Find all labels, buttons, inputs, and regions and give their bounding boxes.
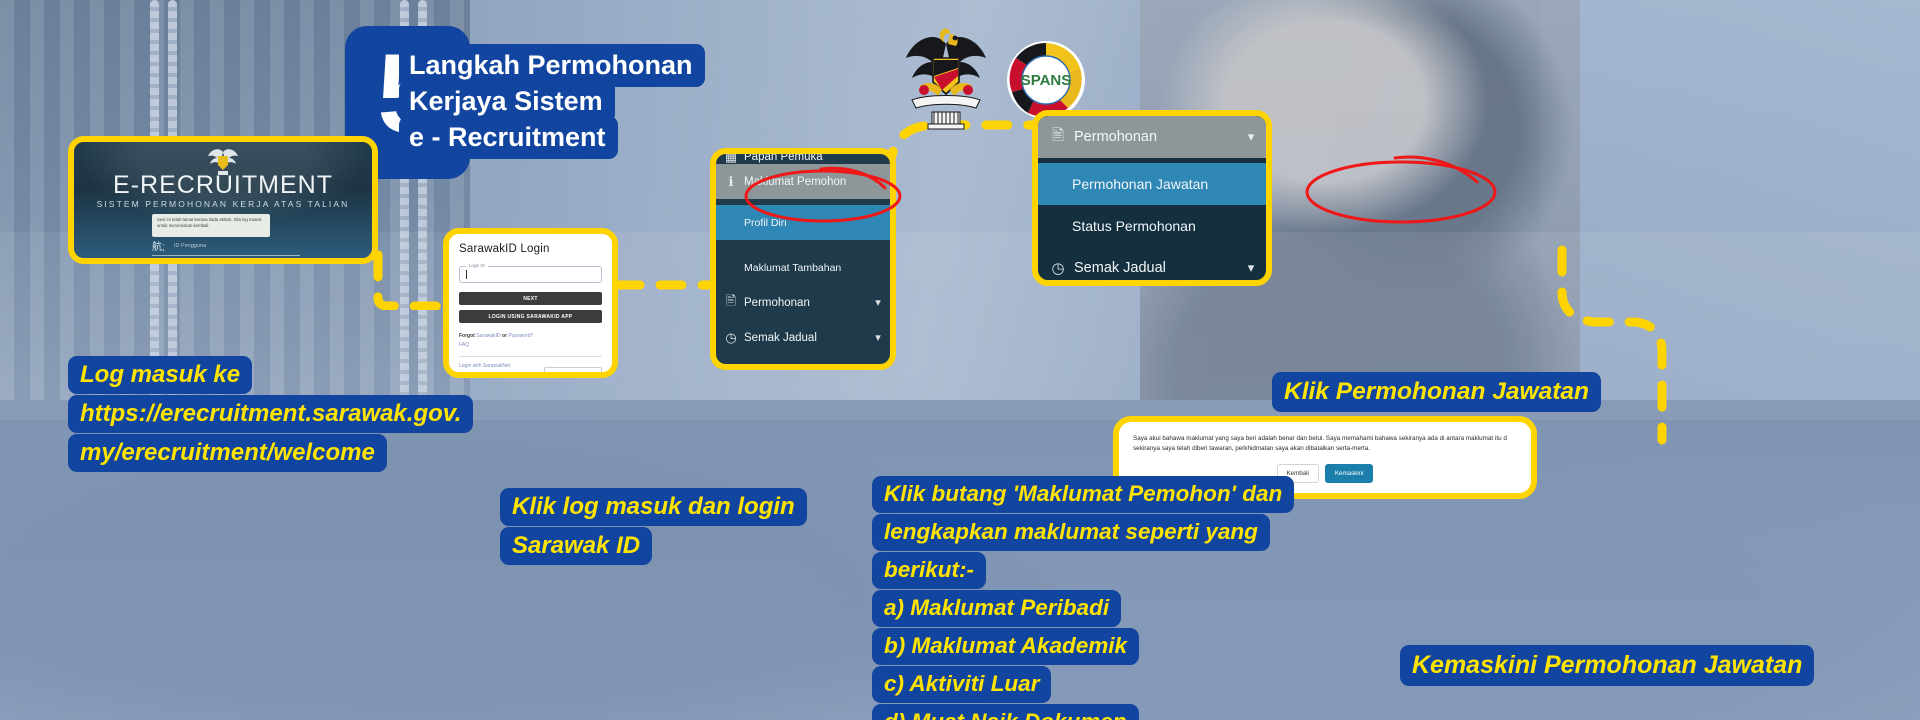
info-icon: ℹ [718, 174, 744, 190]
sarawakid-title: SarawakID Login [459, 243, 602, 255]
sarawak-coat-of-arms-icon [898, 24, 994, 134]
clock-icon: ◷ [1042, 259, 1074, 277]
login-id-label: Login ID [466, 263, 488, 268]
register-row: Login with SarawakNet Don't have an acco… [459, 363, 602, 378]
next-button[interactable]: NEXT [459, 292, 602, 305]
caption-line: d) Muat Naik Dokumen [872, 704, 1139, 720]
document-icon: 🖹 [1042, 125, 1074, 150]
caption-line: Sarawak ID [500, 527, 652, 565]
caption-step-1: Log masuk ke https://erecruitment.sarawa… [68, 356, 473, 473]
forgot-prefix: Forgot [459, 333, 476, 339]
sidebar-item-maklumat-tambahan[interactable]: Maklumat Tambahan [716, 250, 890, 285]
caption-line: Klik butang 'Maklumat Pemohon' dan [872, 476, 1294, 513]
session-expired-notice: Sesi ini telah tamat kerana tiada aktivi… [152, 214, 270, 237]
screenshot-permohonan-menu[interactable]: 🖹 Permohonan ▾ Permohonan Jawatan Status… [1032, 110, 1272, 286]
caption-line: Klik log masuk dan login [500, 488, 807, 526]
poster-title-line-3: e - Recruitment [399, 116, 618, 159]
caption-step-3: Klik butang 'Maklumat Pemohon' dan lengk… [872, 476, 1294, 720]
password-placeholder: Kata Laluan [174, 261, 203, 264]
register-now-button[interactable]: REGISTER NOW [544, 367, 602, 378]
sidebar-item-label: Maklumat Tambahan [744, 262, 890, 274]
connector-step4-step5 [1540, 240, 1870, 470]
sidebar-item-label: Permohonan [744, 297, 866, 309]
login-id-input[interactable]: Login ID [459, 266, 602, 283]
chevron-down-icon: ▾ [866, 331, 890, 344]
sidebar-item-label: Maklumat Pemohon [744, 176, 866, 188]
forgot-sarawakid-link[interactable]: SarawakID [476, 333, 500, 339]
document-icon: 🖹 [718, 292, 744, 314]
svg-text:SPANS: SPANS [1021, 72, 1072, 89]
forgot-password-link[interactable]: Password? [508, 333, 533, 339]
caption-line: Klik Permohonan Jawatan [1272, 372, 1601, 412]
no-account-text: Don't have an account yet? [459, 374, 602, 378]
erecruitment-title: E-RECRUITMENT [74, 173, 372, 198]
chevron-down-icon: ▾ [1236, 129, 1266, 145]
chevron-down-icon: ▾ [866, 175, 890, 188]
caption-line: my/erecruitment/welcome [68, 434, 387, 472]
username-field[interactable]: 航; ID Pengguna [152, 242, 300, 257]
sidebar-item-semak-jadual[interactable]: ◷ Semak Jadual ▾ [716, 320, 890, 355]
sidebar-item-status-permohonan[interactable]: Status Permohonan [1038, 205, 1266, 247]
help-links: Forgot SarawakID or Password? FAQ [459, 332, 602, 349]
sidebar-item-label: Status Permohonan [1072, 218, 1266, 234]
caption-line: Kemaskini Permohonan Jawatan [1400, 645, 1814, 686]
sidebar-item-papan-pemuka[interactable]: ▦ Papan Pemuka [716, 150, 890, 164]
kemaskini-button[interactable]: Kemaskini [1325, 464, 1374, 483]
sidebar-item-permohonan[interactable]: 🖹 Permohonan ▾ [1038, 116, 1266, 158]
menu-spacer [716, 240, 890, 250]
chevron-down-icon: ▾ [1236, 260, 1266, 276]
infographic-poster: 5 Langkah Permohonan Kerjaya Sistem e - … [0, 0, 1920, 720]
chevron-down-icon: ▾ [866, 296, 890, 309]
text-caret [466, 270, 467, 279]
screenshot-maklumat-pemohon-menu[interactable]: ▦ Papan Pemuka ℹ Maklumat Pemohon ▾ Prof… [710, 148, 896, 370]
dashboard-icon: ▦ [718, 149, 744, 165]
sidebar-item-permohonan-jawatan[interactable]: Permohonan Jawatan [1038, 163, 1266, 205]
sidebar-item-label: Semak Jadual [744, 332, 866, 344]
declaration-text-line-1: Saya akui bahawa maklumat yang saya beri… [1133, 434, 1517, 444]
sarawakid-panel: SarawakID Login Login ID NEXT LOGIN USIN… [449, 234, 612, 372]
lock-icon: 🔒 [152, 261, 162, 264]
caption-line: lengkapkan maklumat seperti yang [872, 514, 1270, 551]
caption-step-2: Klik log masuk dan login Sarawak ID [500, 488, 807, 566]
caption-line: c) Aktiviti Luar [872, 666, 1051, 703]
login-using-app-button[interactable]: LOGIN USING SARAWAKID APP [459, 310, 602, 323]
caption-line: Log masuk ke [68, 356, 252, 394]
sidebar-item-label: Papan Pemuka [744, 151, 890, 163]
spans-logo-icon: SPANS [1006, 40, 1086, 120]
sidebar-item-label: Permohonan Jawatan [1072, 176, 1266, 192]
sidebar-item-label: Semak Jadual [1074, 260, 1236, 276]
declaration-body: Saya akui bahawa maklumat yang saya beri… [1119, 422, 1531, 455]
clock-icon: ◷ [718, 330, 744, 346]
divider [459, 356, 602, 357]
sidebar-item-maklumat-pemohon[interactable]: ℹ Maklumat Pemohon ▾ [716, 164, 890, 199]
username-placeholder: ID Pengguna [174, 243, 206, 249]
screenshot-erecruitment-login[interactable]: E-RECRUITMENT SISTEM PERMOHONAN KERJA AT… [68, 136, 378, 264]
faq-link[interactable]: FAQ [459, 342, 469, 348]
caption-line: https://erecruitment.sarawak.gov. [68, 395, 473, 433]
password-field[interactable]: 🔒 Kata Laluan [152, 260, 300, 264]
erecruitment-subtitle: SISTEM PERMOHONAN KERJA ATAS TALIAN [74, 199, 372, 209]
forgot-line: Forgot SarawakID or Password? [459, 332, 602, 341]
sidebar-item-label: Profil Diri [744, 217, 890, 229]
sidebar-item-permohonan[interactable]: 🖹 Permohonan ▾ [716, 285, 890, 320]
field-underline [152, 255, 300, 256]
caption-line: a) Maklumat Peribadi [872, 590, 1121, 627]
caption-step-5: Kemaskini Permohonan Jawatan [1400, 645, 1814, 686]
caption-line: b) Maklumat Akademik [872, 628, 1139, 665]
caption-step-4: Klik Permohonan Jawatan [1272, 372, 1601, 412]
caption-line: berikut:- [872, 552, 986, 589]
sidebar-item-profil-diri[interactable]: Profil Diri [716, 205, 890, 240]
sidebar-item-semak-jadual[interactable]: ◷ Semak Jadual ▾ [1038, 247, 1266, 286]
sidebar-item-label: Permohonan [1074, 129, 1236, 145]
user-circle-icon: 航; [152, 243, 162, 253]
declaration-text-line-2: sekiranya saya telah diberi tawaran, per… [1133, 444, 1517, 454]
